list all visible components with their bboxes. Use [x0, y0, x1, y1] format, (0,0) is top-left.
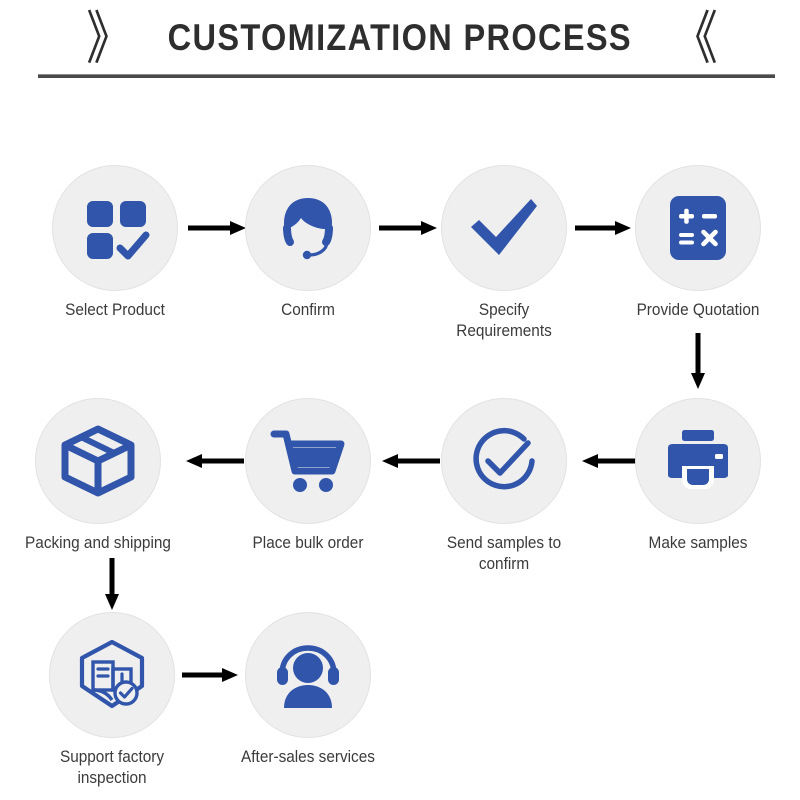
printer-icon — [662, 428, 734, 494]
process-step-packing-and-shipping[interactable]: Packing and shipping — [18, 398, 178, 554]
left-double-chevron-icon: 》 — [86, 9, 128, 67]
step-label: Specify Requirements — [430, 300, 579, 342]
title-divider — [38, 74, 775, 78]
step-icon-circle — [441, 398, 567, 524]
calculator-icon — [665, 192, 731, 264]
title-row: 》 CUSTOMIZATION PROCESS 《 — [0, 8, 800, 68]
step-icon-circle — [635, 398, 761, 524]
step-icon-circle — [52, 165, 178, 291]
arrow-quotation-to-make-samples — [688, 333, 708, 391]
process-step-support-factory-inspection[interactable]: Support factory inspection — [32, 612, 192, 789]
step-label: Select Product — [41, 300, 190, 321]
circle-check-outline-icon — [466, 423, 542, 499]
step-icon-circle — [35, 398, 161, 524]
process-step-select-product[interactable]: Select Product — [35, 165, 195, 321]
process-step-confirm[interactable]: Confirm — [228, 165, 388, 321]
headphones-person-icon — [270, 640, 346, 710]
process-step-make-samples[interactable]: Make samples — [618, 398, 778, 554]
step-icon-circle — [245, 165, 371, 291]
step-icon-circle — [635, 165, 761, 291]
step-label: Place bulk order — [234, 533, 383, 554]
step-icon-circle — [49, 612, 175, 738]
package-box-icon — [60, 425, 136, 497]
page-header: 》 CUSTOMIZATION PROCESS 《 — [0, 0, 800, 95]
process-step-specify-requirements[interactable]: Specify Requirements — [424, 165, 584, 342]
step-label: Confirm — [234, 300, 383, 321]
step-label: Send samples to confirm — [430, 533, 579, 575]
step-icon-circle — [441, 165, 567, 291]
step-icon-circle — [245, 398, 371, 524]
support-agent-headset-icon — [270, 190, 346, 266]
arrow-packing-to-inspection — [102, 558, 122, 612]
process-step-after-sales-services[interactable]: After-sales services — [228, 612, 388, 768]
step-icon-circle — [245, 612, 371, 738]
grid-check-icon — [79, 192, 151, 264]
step-label: Support factory inspection — [38, 747, 187, 789]
page-title: CUSTOMIZATION PROCESS — [168, 17, 632, 59]
step-label: Packing and shipping — [24, 533, 173, 554]
factory-inspection-shield-icon — [74, 638, 150, 712]
step-label: After-sales services — [234, 747, 383, 768]
shopping-cart-icon — [270, 426, 346, 496]
process-step-provide-quotation[interactable]: Provide Quotation — [618, 165, 778, 321]
step-label: Make samples — [624, 533, 773, 554]
right-double-chevron-icon: 《 — [672, 9, 714, 67]
process-step-send-samples-to-confirm[interactable]: Send samples to confirm — [424, 398, 584, 575]
process-step-place-bulk-order[interactable]: Place bulk order — [228, 398, 388, 554]
step-label: Provide Quotation — [624, 300, 773, 321]
checkmark-icon — [465, 189, 543, 267]
